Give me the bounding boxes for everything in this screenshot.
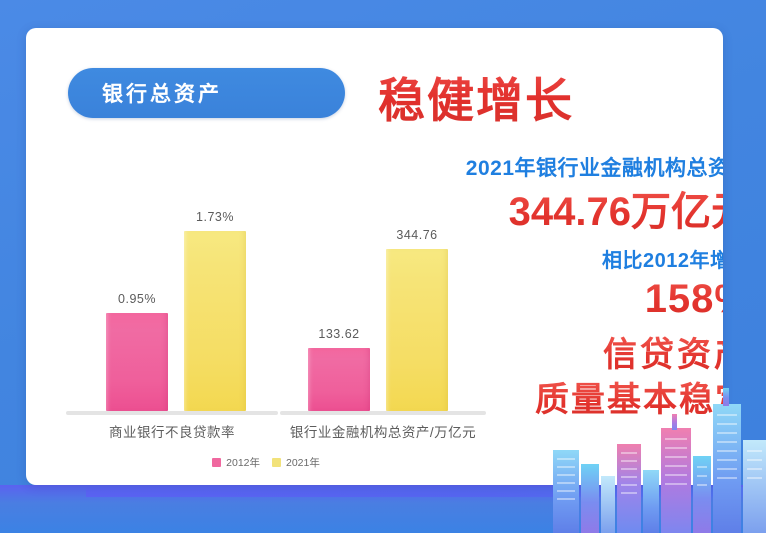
- headline-text: 稳健增长: [378, 62, 574, 131]
- stat-label-total-assets-2021: 2021年银行业金融机构总资产: [406, 156, 723, 181]
- legend-item-2021: 2021年: [272, 455, 320, 470]
- content-card: 银行总资产 稳健增长 0.95% 1.73% 133.: [26, 28, 723, 485]
- statistics-panel: 2021年银行业金融机构总资产 344.76万亿元 相比2012年增长 158%…: [406, 156, 723, 421]
- stat-label-growth-vs-2012: 相比2012年增长: [406, 249, 723, 273]
- legend-swatch-icon: [272, 458, 281, 467]
- bar-value-label: 1.73%: [196, 210, 234, 224]
- axis-line-group1: [66, 411, 278, 415]
- section-title-badge: 银行总资产: [68, 68, 345, 118]
- bar-value-label: 0.95%: [118, 292, 156, 306]
- bar-rect: [308, 348, 370, 411]
- x-axis-label-2: 银行业金融机构总资产/万亿元: [276, 421, 490, 441]
- stat-credit-assets-line1: 信贷资产: [406, 335, 723, 376]
- bottom-accent-bar: [86, 487, 766, 497]
- stat-value-growth-percent: 158%: [406, 277, 723, 321]
- chart-legend: 2012年 2021年: [56, 455, 476, 470]
- section-title-label: 银行总资产: [102, 78, 222, 108]
- stat-credit-assets-line2: 质量基本稳定: [406, 380, 723, 421]
- bar-value-label: 133.62: [318, 327, 359, 341]
- legend-swatch-icon: [212, 458, 221, 467]
- infographic-canvas: 银行总资产 稳健增长 0.95% 1.73% 133.: [0, 0, 766, 533]
- bar-rect: [184, 231, 246, 411]
- bar-2012-group1: 0.95%: [106, 173, 168, 411]
- x-axis-label-1: 商业银行不良贷款率: [66, 421, 278, 441]
- bar-rect: [106, 313, 168, 411]
- legend-label: 2012年: [226, 455, 260, 470]
- legend-item-2012: 2012年: [212, 455, 260, 470]
- bar-2012-group2: 133.62: [308, 173, 370, 411]
- bar-group-nonperforming-loan-ratio: 0.95% 1.73%: [76, 173, 276, 411]
- legend-label: 2021年: [286, 455, 320, 470]
- bar-2021-group1: 1.73%: [184, 173, 246, 411]
- stat-value-total-assets: 344.76万亿元: [406, 189, 723, 235]
